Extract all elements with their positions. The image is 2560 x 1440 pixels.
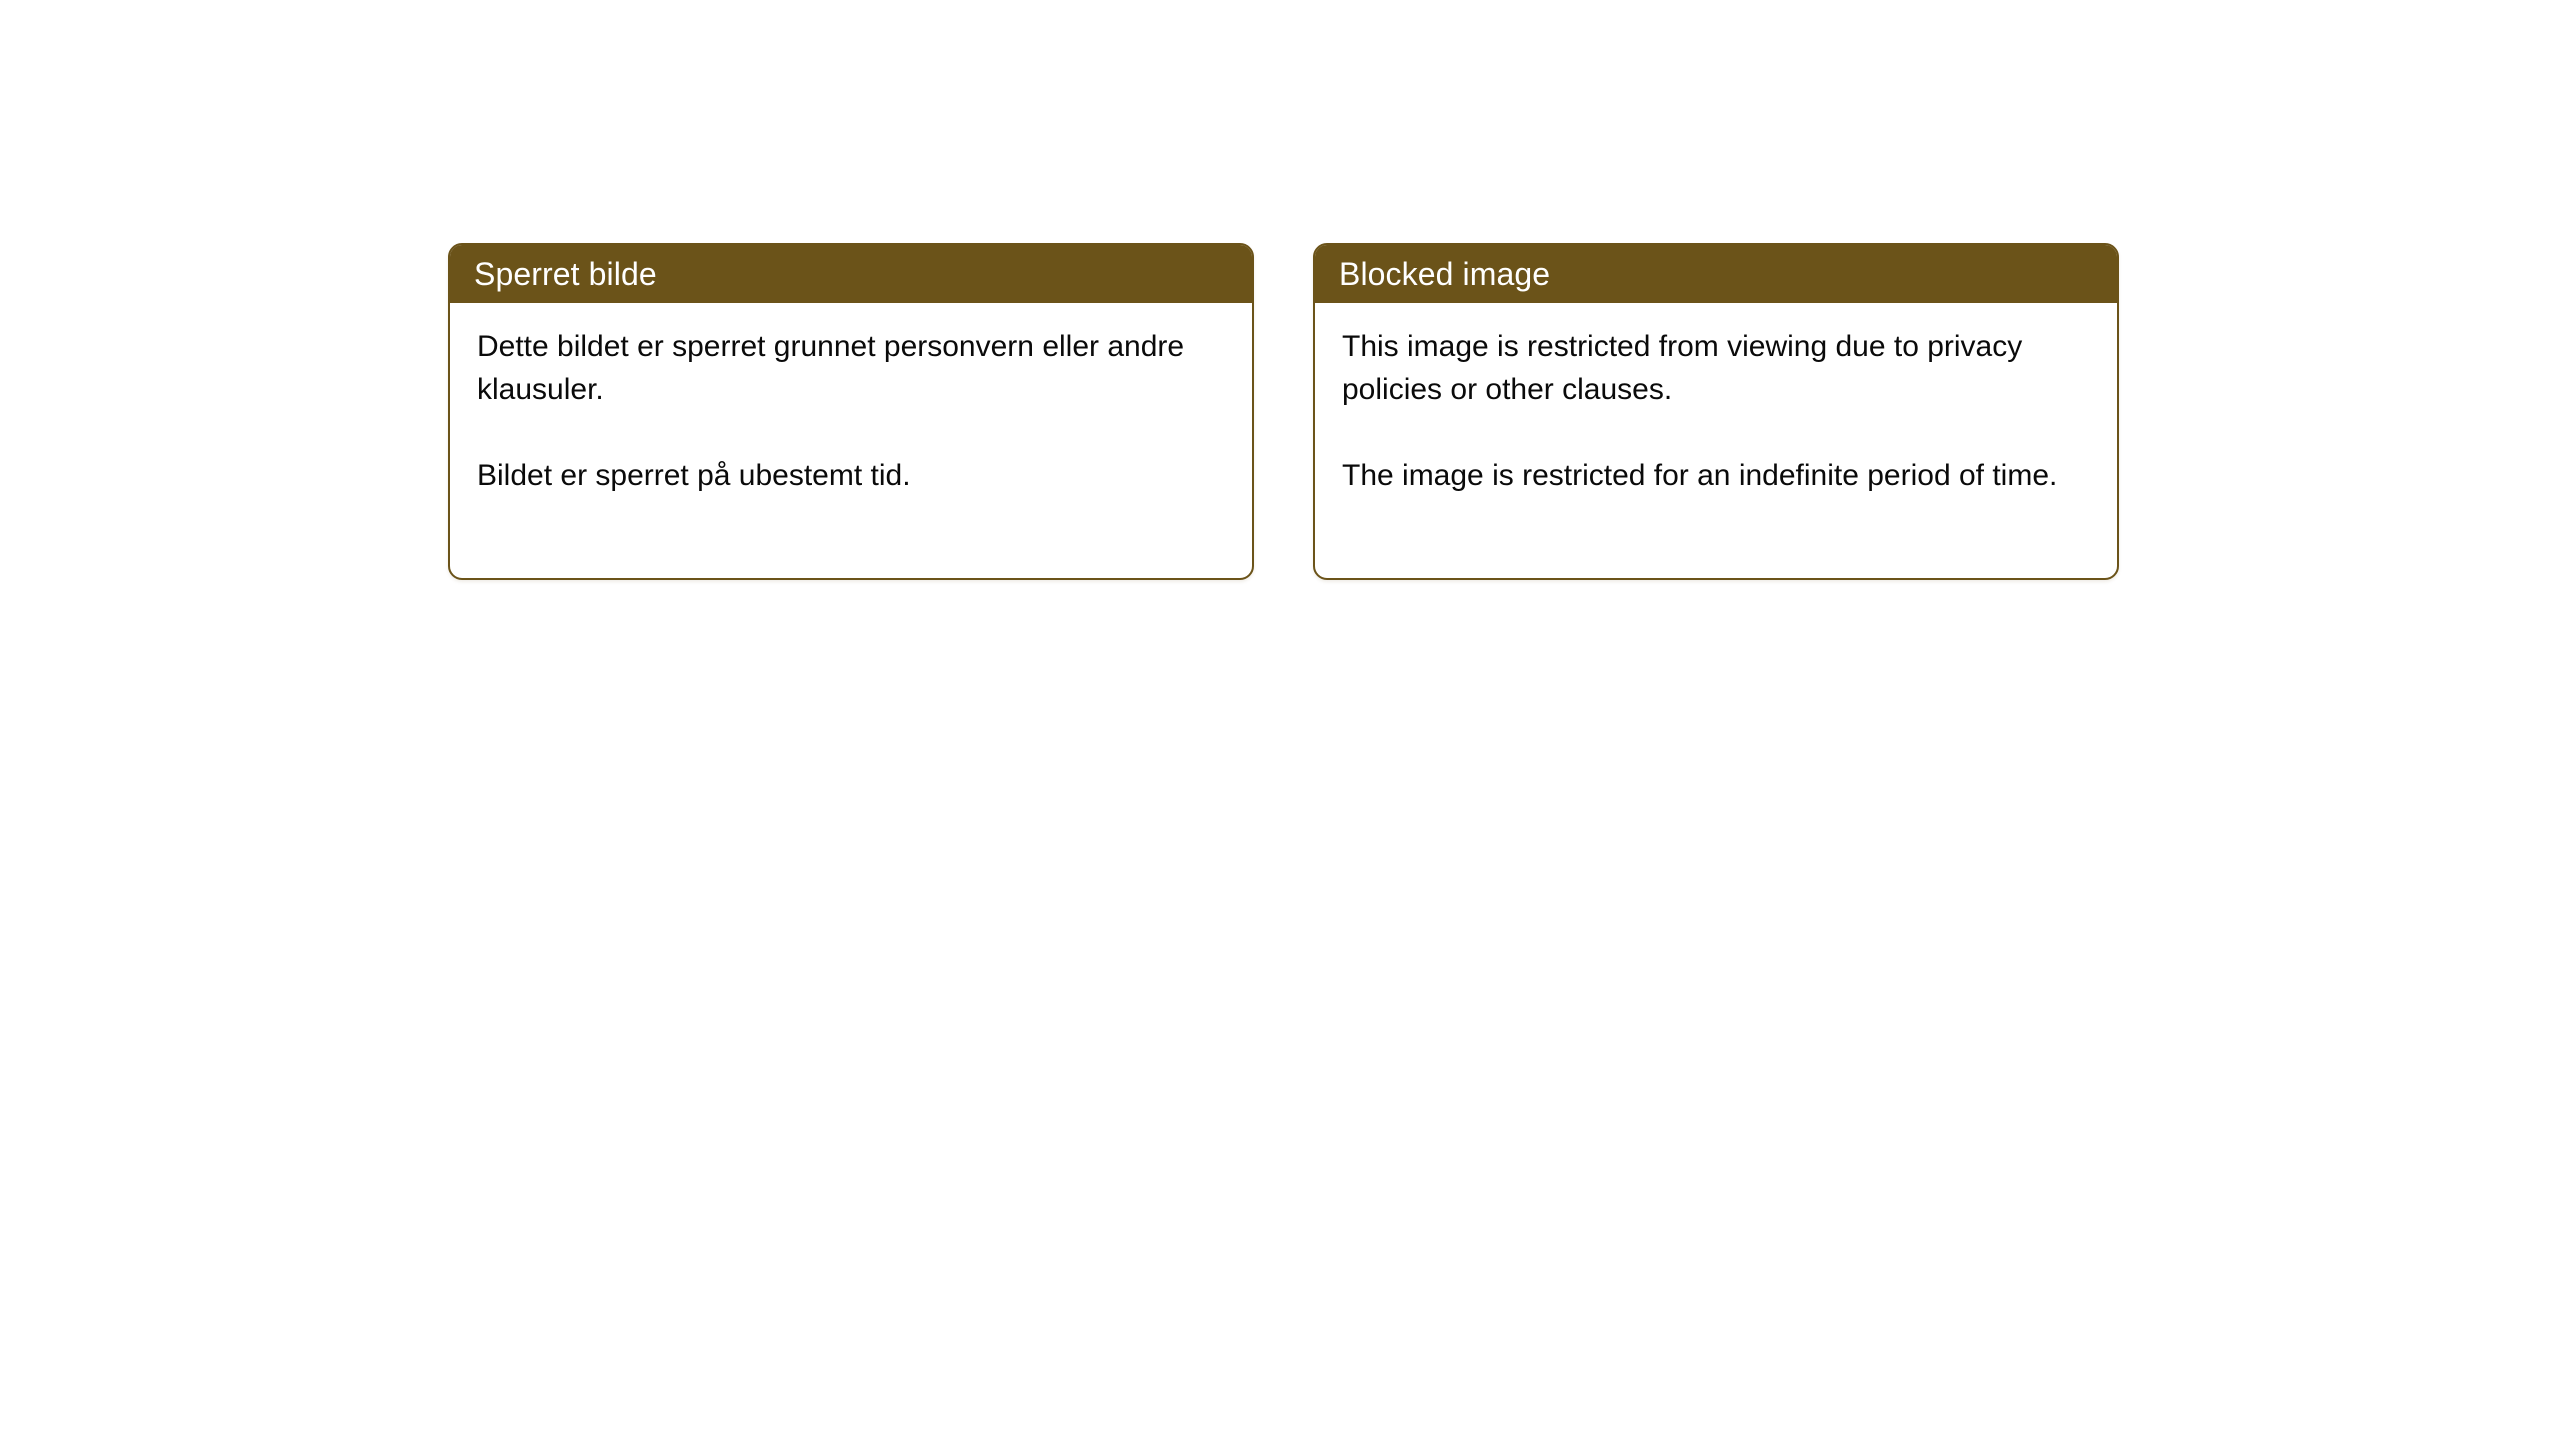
notice-paragraph-secondary-english: The image is restricted for an indefinit…	[1342, 454, 2091, 497]
notice-header-english: Blocked image	[1315, 245, 2117, 303]
page-canvas: Sperret bilde Dette bildet er sperret gr…	[0, 0, 2560, 1440]
notice-header-norwegian: Sperret bilde	[450, 245, 1252, 303]
blocked-image-notice-english: Blocked image This image is restricted f…	[1313, 243, 2119, 580]
blocked-image-notice-norwegian: Sperret bilde Dette bildet er sperret gr…	[448, 243, 1254, 580]
notice-title-english: Blocked image	[1339, 258, 1550, 290]
notice-paragraph-primary-norwegian: Dette bildet er sperret grunnet personve…	[477, 325, 1226, 411]
notice-paragraph-secondary-norwegian: Bildet er sperret på ubestemt tid.	[477, 454, 1226, 497]
notice-body-norwegian: Dette bildet er sperret grunnet personve…	[450, 303, 1252, 497]
notice-body-english: This image is restricted from viewing du…	[1315, 303, 2117, 497]
notice-title-norwegian: Sperret bilde	[474, 258, 657, 290]
notice-paragraph-primary-english: This image is restricted from viewing du…	[1342, 325, 2091, 411]
